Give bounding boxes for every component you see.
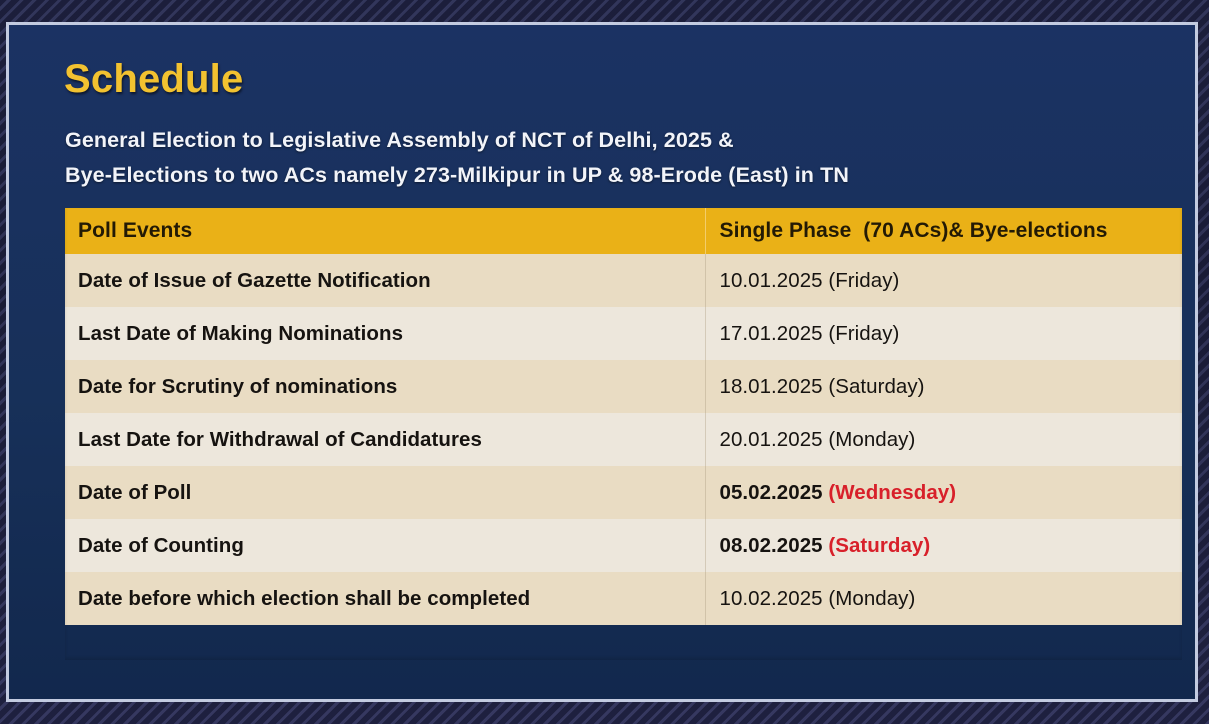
table-row: Date of Issue of Gazette Notification10.… — [65, 254, 1182, 307]
cell-date: 17.01.2025 (Friday) — [705, 307, 1182, 360]
table-row: Date of Poll05.02.2025 (Wednesday) — [65, 466, 1182, 519]
cell-poll-event: Date before which election shall be comp… — [65, 572, 705, 625]
date-number: 18.01.2025 — [720, 375, 823, 398]
slide-subtitle: General Election to Legislative Assembly… — [65, 123, 1125, 193]
date-day-name: (Saturday) — [828, 375, 924, 398]
cell-date: 10.02.2025 (Monday) — [705, 572, 1182, 625]
subtitle-line-2: Bye-Elections to two ACs namely 273-Milk… — [65, 158, 1125, 193]
table-row: Date for Scrutiny of nominations18.01.20… — [65, 360, 1182, 413]
page-title: Schedule — [64, 57, 243, 102]
cell-poll-event: Date of Issue of Gazette Notification — [65, 254, 705, 307]
date-day-name: (Wednesday) — [828, 481, 956, 504]
table-header-row: Poll Events Single Phase (70 ACs)& Bye-e… — [65, 208, 1182, 254]
date-number: 20.01.2025 — [720, 428, 823, 451]
cell-date: 10.01.2025 (Friday) — [705, 254, 1182, 307]
subtitle-line-1: General Election to Legislative Assembly… — [65, 123, 1125, 158]
cell-poll-event: Last Date for Withdrawal of Candidatures — [65, 413, 705, 466]
cell-date: 20.01.2025 (Monday) — [705, 413, 1182, 466]
date-number: 17.01.2025 — [720, 322, 823, 345]
table-row: Last Date of Making Nominations17.01.202… — [65, 307, 1182, 360]
cell-date: 05.02.2025 (Wednesday) — [705, 466, 1182, 519]
column-header-phase-dates: Single Phase (70 ACs)& Bye-elections — [705, 208, 1182, 254]
schedule-table-body: Date of Issue of Gazette Notification10.… — [65, 254, 1182, 625]
table-row: Last Date for Withdrawal of Candidatures… — [65, 413, 1182, 466]
date-number: 05.02.2025 — [720, 481, 823, 504]
column-header-poll-events: Poll Events — [65, 208, 705, 254]
cell-poll-event: Date for Scrutiny of nominations — [65, 360, 705, 413]
date-day-name: (Friday) — [828, 322, 899, 345]
date-day-name: (Saturday) — [828, 534, 930, 557]
cell-date: 18.01.2025 (Saturday) — [705, 360, 1182, 413]
date-day-name: (Monday) — [828, 428, 915, 451]
slide-frame: Schedule General Election to Legislative… — [6, 22, 1198, 702]
schedule-table: Poll Events Single Phase (70 ACs)& Bye-e… — [65, 208, 1182, 625]
cell-poll-event: Date of Poll — [65, 466, 705, 519]
date-day-name: (Monday) — [828, 587, 915, 610]
table-row: Date before which election shall be comp… — [65, 572, 1182, 625]
cell-poll-event: Date of Counting — [65, 519, 705, 572]
date-day-name: (Friday) — [828, 269, 899, 292]
cell-date: 08.02.2025 (Saturday) — [705, 519, 1182, 572]
slide-body: Schedule General Election to Legislative… — [9, 25, 1195, 699]
cell-poll-event: Last Date of Making Nominations — [65, 307, 705, 360]
table-row: Date of Counting08.02.2025 (Saturday) — [65, 519, 1182, 572]
date-number: 10.01.2025 — [720, 269, 823, 292]
date-number: 08.02.2025 — [720, 534, 823, 557]
date-number: 10.02.2025 — [720, 587, 823, 610]
